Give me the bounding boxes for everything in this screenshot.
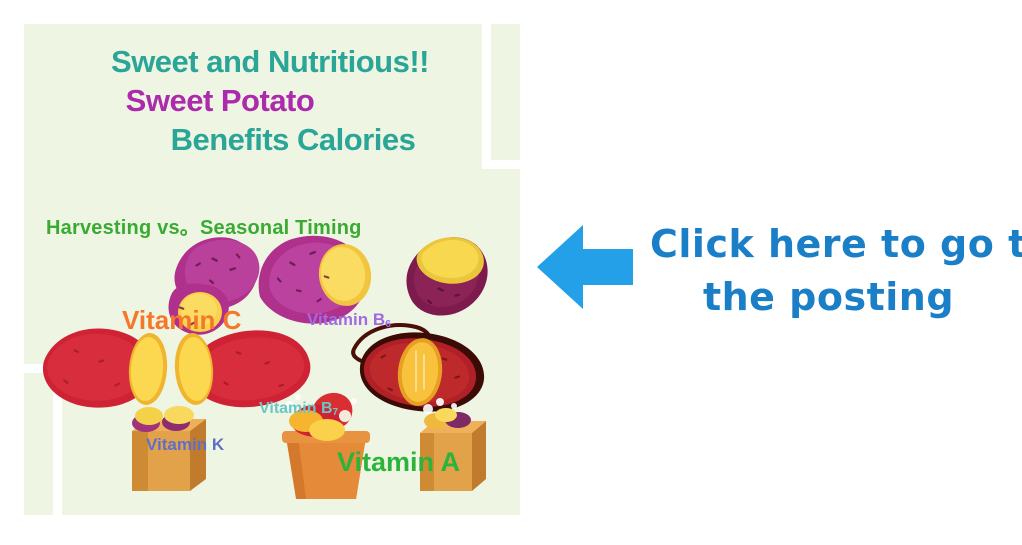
- headline-line-1: Sweet and Nutritious!!: [24, 42, 520, 81]
- label-vitamin-b7-subscript: 7: [333, 407, 339, 418]
- article-thumbnail-card[interactable]: Sweet and Nutritious!! Sweet Potato Bene…: [24, 24, 520, 515]
- cta-line-2: the posting: [650, 271, 1007, 324]
- label-vitamin-a: Vitamin A: [337, 449, 460, 476]
- label-vitamin-k: Vitamin K: [146, 436, 224, 453]
- red-sweet-potato-outlined: [353, 325, 484, 412]
- cta-line-1: Click here to go to: [650, 218, 1007, 271]
- headline-line-3: Benefits Calories: [66, 120, 520, 159]
- left-arrow-icon: [537, 225, 633, 309]
- label-vitamin-b6-text: Vitamin B: [307, 310, 385, 329]
- label-vitamin-b6-subscript: 6: [385, 318, 391, 330]
- label-vitamin-b7: Vitamin B7: [259, 401, 338, 417]
- label-vitamin-c: Vitamin C: [122, 307, 241, 333]
- purple-sweet-potato-right: [406, 237, 487, 315]
- paper-bag-right: [420, 398, 486, 491]
- red-sweet-potato-split: [43, 329, 310, 408]
- cta-text: Click here to go to the posting: [650, 218, 1007, 324]
- label-vitamin-b7-text: Vitamin B: [259, 400, 333, 417]
- frame-corner-line-top-right-horizontal: [482, 160, 520, 169]
- headline-line-2: Sweet Potato: [24, 81, 520, 120]
- page-title: Sweet and Nutritious!! Sweet Potato Bene…: [24, 42, 520, 159]
- call-to-action: Click here to go to the posting: [537, 218, 1007, 328]
- label-vitamin-b6: Vitamin B6: [307, 311, 391, 328]
